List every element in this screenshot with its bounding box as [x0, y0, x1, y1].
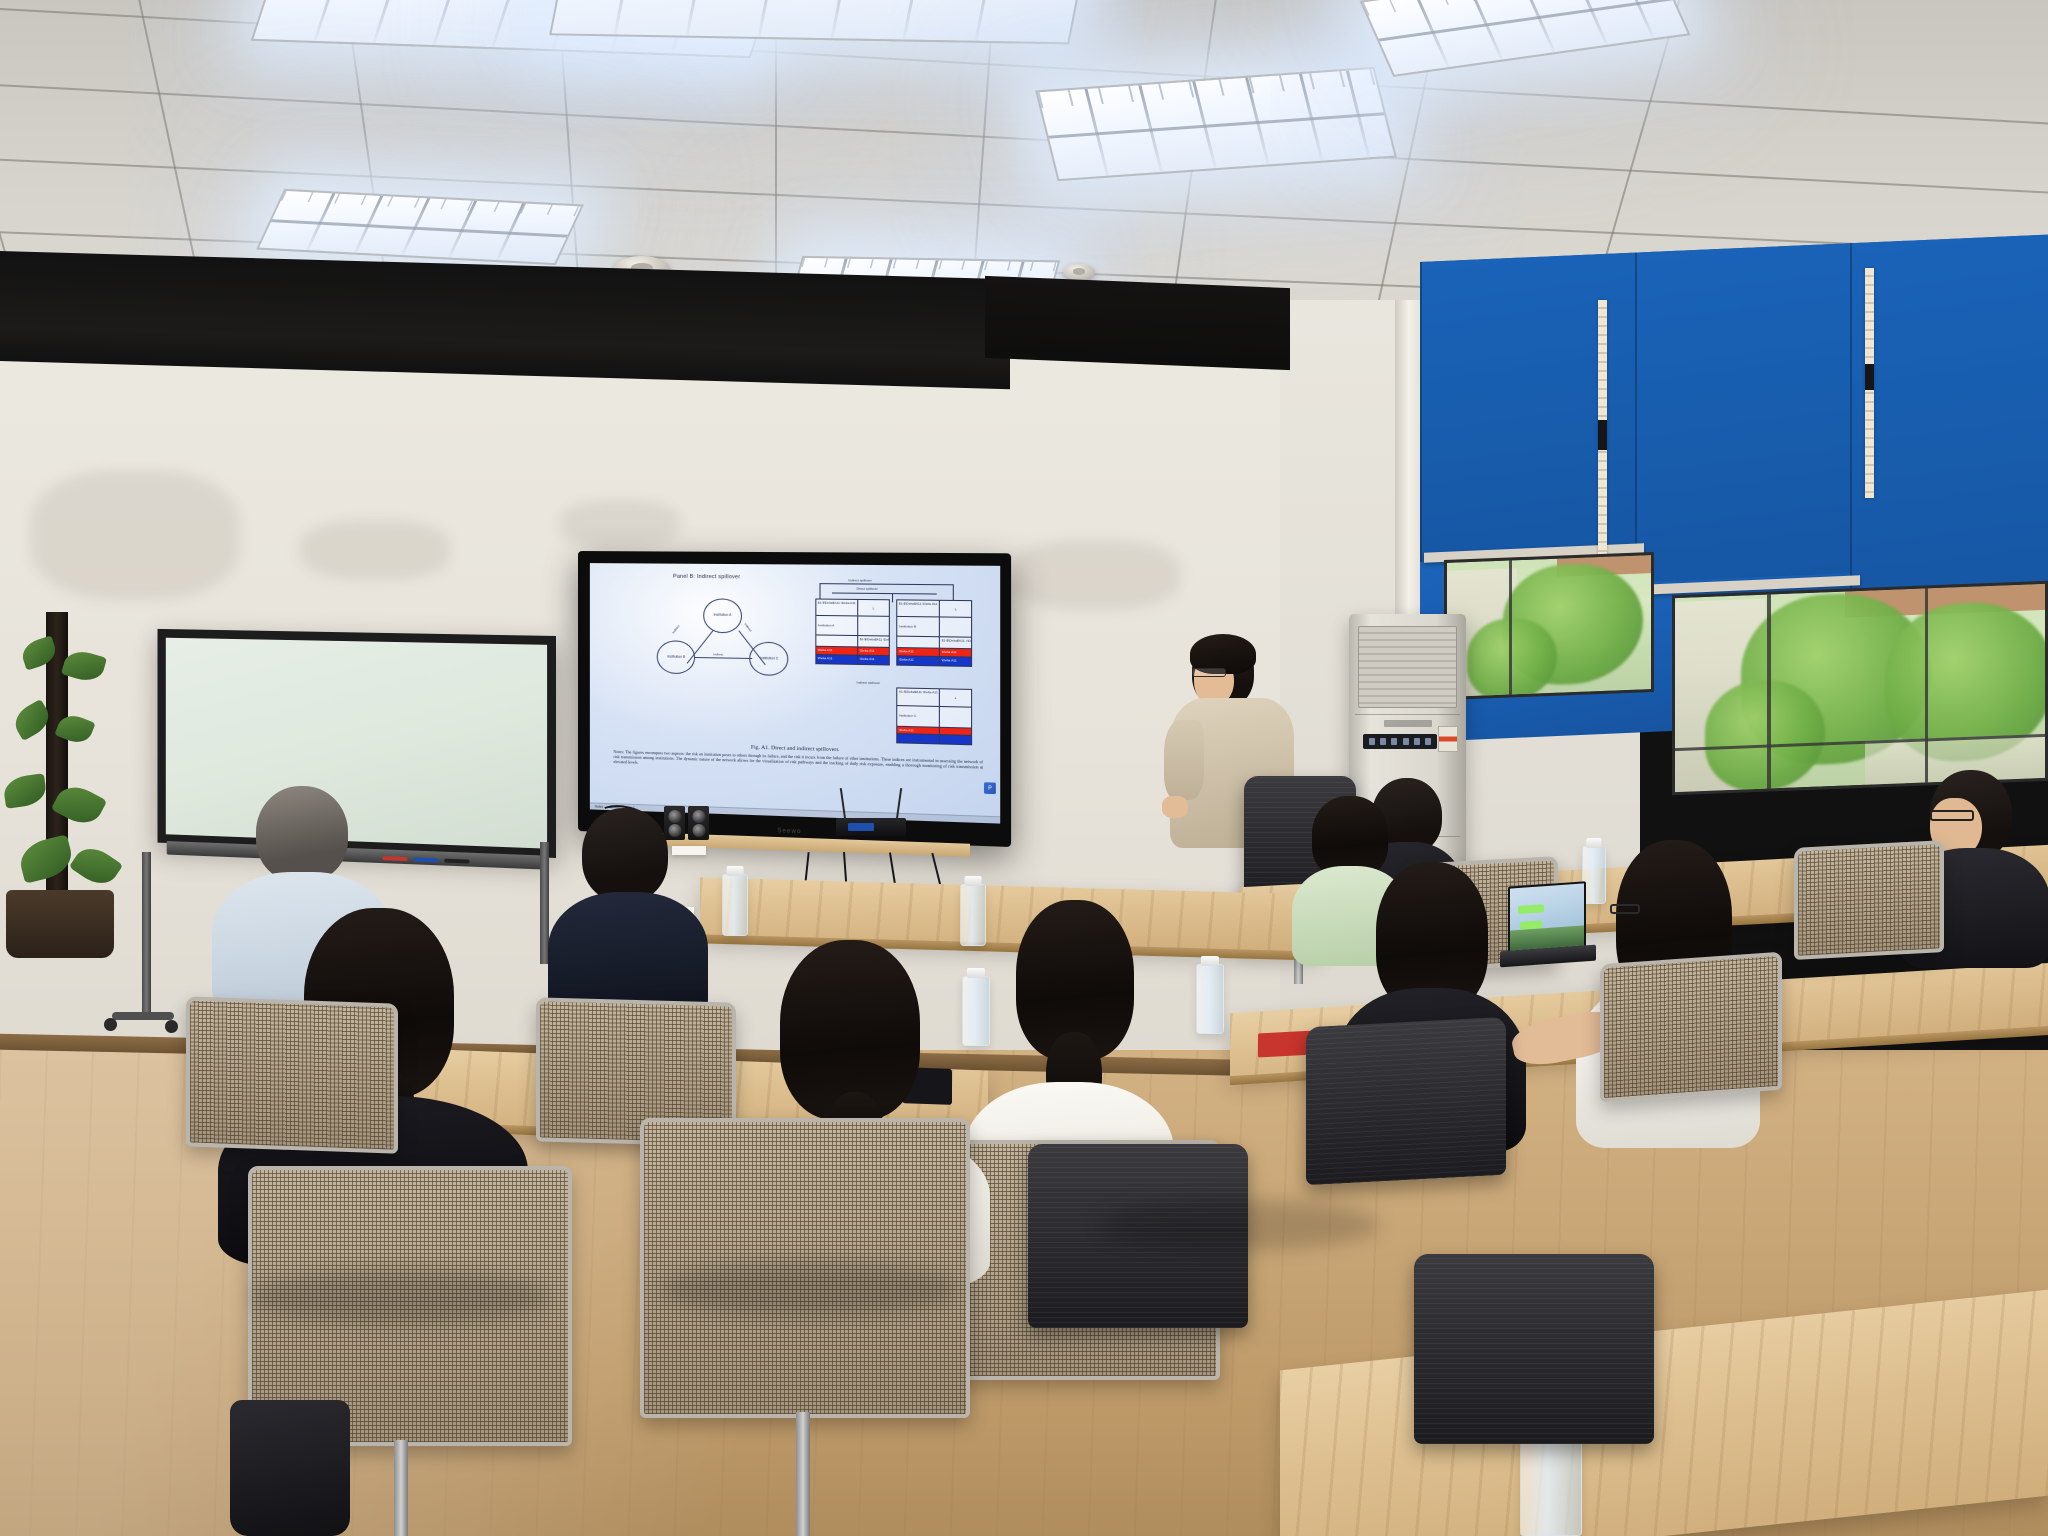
network-node-c: Institution C — [750, 642, 789, 677]
tbl-b-cell-h1: $1-$\Delta$A11 \Delta A11 — [897, 601, 940, 617]
shadow — [250, 1270, 550, 1324]
tbl-c-red-1: \Delta A11 — [897, 726, 940, 734]
institution-table-b: $1-$\Delta$A11 \Delta A11 L Institution … — [896, 600, 972, 668]
tbl-a-blue-1: \Delta A11 — [816, 655, 858, 664]
smoke-detector-2 — [1063, 264, 1095, 280]
tbl-c-blank — [940, 707, 971, 727]
tbl-c-cell-h2: L — [940, 689, 971, 706]
node-b-label: Institution B — [667, 656, 685, 660]
window-left — [1444, 552, 1654, 700]
tbl-a-cell-h1: $1-$\Delta$A11 \Delta A11 — [816, 600, 858, 616]
tbl-a-blue-row: \Delta A11 \Delta A11 — [816, 655, 889, 665]
tbl-b-blue-1: \Delta A11 — [897, 656, 940, 665]
tbl-c-blue-1 — [897, 734, 940, 743]
tbl-c-name: Institution C — [897, 706, 940, 727]
attendee-front-3 — [548, 808, 708, 1008]
blind-pull-cord-1[interactable] — [1598, 300, 1607, 560]
tbl-c-cell-h1: A1-$\Delta$A11 \Delta A11 — [897, 689, 940, 706]
wall-soffit-dark-band-right — [985, 276, 1290, 370]
attendee-glasses-icon — [1930, 810, 1974, 821]
tbl-b-blue-row: \Delta A11 \Delta A11 — [897, 656, 971, 666]
tbl-b-red-2: \Delta A11 — [940, 649, 971, 657]
edge-label-ab: Indirect — [671, 624, 680, 634]
tbl-a-blank — [858, 617, 889, 636]
tbl-b-sub1: $1-$\Delta$A11 +\Delta A11 — [940, 637, 971, 648]
tbl-a-red-1: \Delta A11 — [816, 647, 858, 655]
chair-post — [796, 1412, 810, 1536]
chair[interactable] — [186, 996, 398, 1153]
wall-mark-3 — [1010, 540, 1180, 610]
classroom-scene: Panel B: Indirect spillover Institution … — [0, 0, 2048, 1536]
tbl-c-blue-2 — [940, 735, 971, 744]
marker-blue[interactable] — [413, 857, 438, 862]
wall-mark-1 — [30, 470, 240, 600]
wall-mark-4 — [560, 500, 680, 548]
tbl-c-red-2 — [940, 727, 971, 735]
interactive-smart-display[interactable]: Panel B: Indirect spillover Institution … — [578, 551, 1011, 847]
shadow — [660, 1262, 960, 1316]
chair[interactable] — [1306, 1017, 1506, 1185]
flow-connector-down-left — [819, 584, 820, 599]
node-a-label: Institution A — [713, 614, 731, 618]
chair-post — [394, 1440, 408, 1536]
water-bottle[interactable] — [1196, 964, 1224, 1034]
amplifier-router[interactable] — [836, 818, 906, 836]
flow-label-top: Indirect spillover — [848, 578, 872, 582]
window-right — [1672, 581, 2048, 795]
presenter-glasses-icon — [1192, 668, 1226, 677]
ac-energy-label — [1438, 726, 1458, 752]
network-edge-bc — [695, 658, 752, 660]
tbl-b-cell-h2: L — [940, 601, 971, 617]
water-bottle[interactable] — [722, 874, 748, 936]
ac-air-vent — [1358, 626, 1457, 708]
tbl-c-blue-row — [897, 734, 971, 744]
powerpoint-icon[interactable]: P — [984, 782, 996, 794]
display-brand-label: Seewo — [777, 828, 801, 835]
bag-on-floor — [230, 1400, 350, 1536]
tbl-a-sub-blank — [816, 635, 858, 646]
flow-connector-down-mid — [892, 593, 893, 602]
tbl-b-blue-2: \Delta A11 — [940, 657, 971, 666]
presenter-sleeve-left — [1164, 720, 1204, 800]
whiteboard-leg-left — [142, 852, 151, 1014]
institution-table-c: A1-$\Delta$A11 \Delta A11 L Institution … — [896, 687, 972, 745]
institution-table-a: $1-$\Delta$A11 \Delta A11 L Institution … — [815, 599, 890, 666]
chair[interactable] — [1600, 952, 1782, 1103]
tbl-a-blue-2: \Delta A11 — [858, 656, 889, 665]
ac-brand-logo — [1384, 720, 1432, 727]
tbl-a-sub1: $1-$\Delta$A11 \Delta A11 — [858, 636, 889, 647]
marker-black[interactable] — [444, 859, 469, 864]
blind-pull-cord-2[interactable] — [1865, 268, 1874, 498]
presenter-hand-left — [1162, 796, 1188, 818]
flow-label-top2: Direct spillover — [857, 587, 878, 591]
whiteboard-wheel-left — [104, 1018, 117, 1031]
edge-label-bc: Indirect — [713, 652, 723, 656]
ac-display-panel[interactable] — [1363, 734, 1437, 749]
flow-connector-top — [819, 584, 953, 586]
display-screen[interactable]: Panel B: Indirect spillover Institution … — [590, 563, 1000, 824]
tbl-b-name: Institution B — [897, 617, 940, 636]
chair-right-black[interactable] — [1414, 1254, 1654, 1444]
presentation-slide: Panel B: Indirect spillover Institution … — [590, 563, 1000, 824]
plant-pot — [6, 890, 114, 958]
flow-label-mid: Indirect spillover — [857, 680, 881, 685]
tbl-a-red-2: \Delta A11 — [858, 647, 889, 655]
tbl-a-cell-h2: L — [858, 600, 889, 616]
network-node-a: Institution A — [703, 599, 742, 633]
wall-mark-2 — [300, 520, 450, 580]
flow-connector-down-right — [953, 585, 954, 600]
tbl-b-sub-blank — [897, 637, 940, 648]
tbl-b-blank — [940, 618, 971, 637]
slide-panel-title: Panel B: Indirect spillover — [673, 574, 740, 581]
flow-connector-top2 — [832, 593, 937, 595]
figure-caption: Fig. A1. Direct and indirect spillovers … — [613, 741, 983, 775]
whiteboard-wheel-right — [165, 1020, 178, 1033]
tbl-a-name: Institution A — [816, 616, 858, 635]
shadow — [1100, 1200, 1380, 1250]
amplifier-display — [848, 823, 874, 831]
attendee-head — [582, 808, 668, 902]
attendee-head — [256, 786, 348, 882]
whiteboard-foot-left — [112, 1012, 174, 1020]
attendee-glasses-icon — [1610, 904, 1640, 914]
tbl-b-red-1: \Delta A11 — [897, 648, 940, 656]
edge-label-ac: Indirect — [744, 622, 753, 632]
chair[interactable] — [1794, 840, 1944, 960]
